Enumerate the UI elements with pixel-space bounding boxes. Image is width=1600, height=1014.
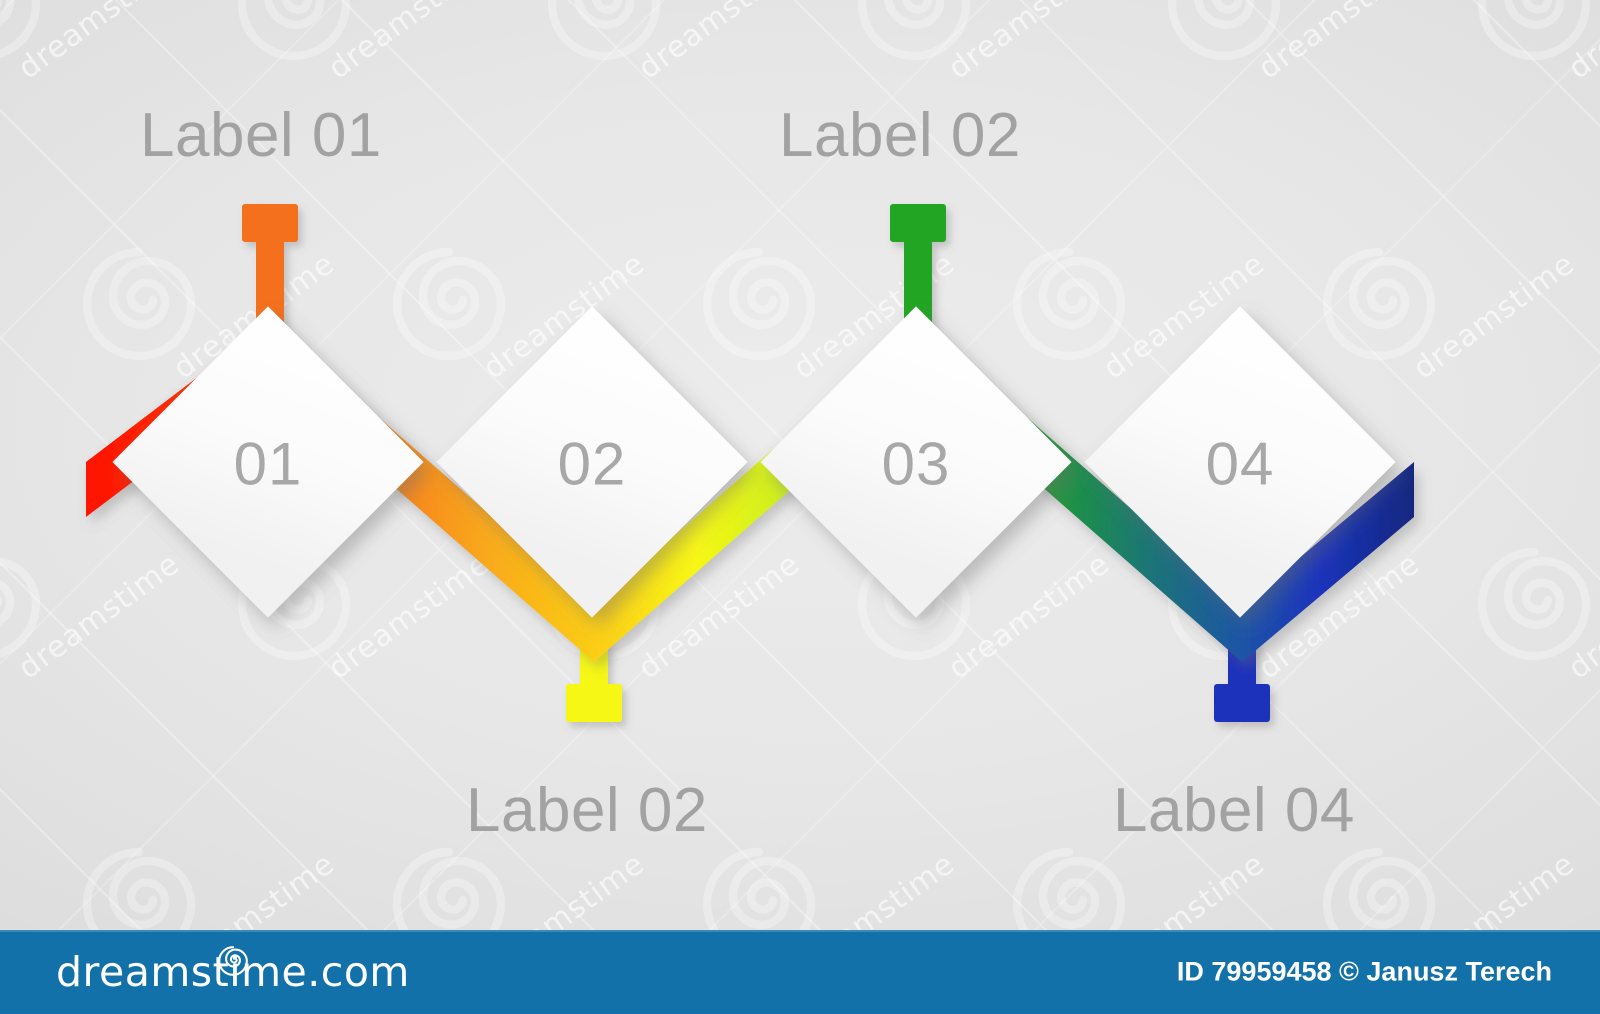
footer-divider — [0, 930, 1600, 932]
image-credit-text: ID 79959458 © Janusz Terech — [1177, 957, 1552, 988]
diamond-group — [112, 306, 1395, 617]
stock-footer-bar: dreamstime.com ID 79959458 © Janusz Tere… — [0, 930, 1600, 1014]
dreamstime-spiral-icon — [216, 944, 250, 978]
diamond-number-01: 01 — [234, 430, 303, 499]
step-label-bottom-right: Label 04 — [1113, 775, 1355, 846]
step-label-top-right: Label 02 — [779, 100, 1021, 171]
diamond-number-02: 02 — [558, 430, 627, 499]
diamond-number-03: 03 — [882, 430, 951, 499]
step-label-bottom-left: Label 02 — [466, 775, 708, 846]
diamond-number-04: 04 — [1206, 430, 1275, 499]
step-label-top-left: Label 01 — [140, 100, 382, 171]
image-canvas: dreamstimedreamstimedreamstimedreamstime… — [0, 0, 1600, 1014]
